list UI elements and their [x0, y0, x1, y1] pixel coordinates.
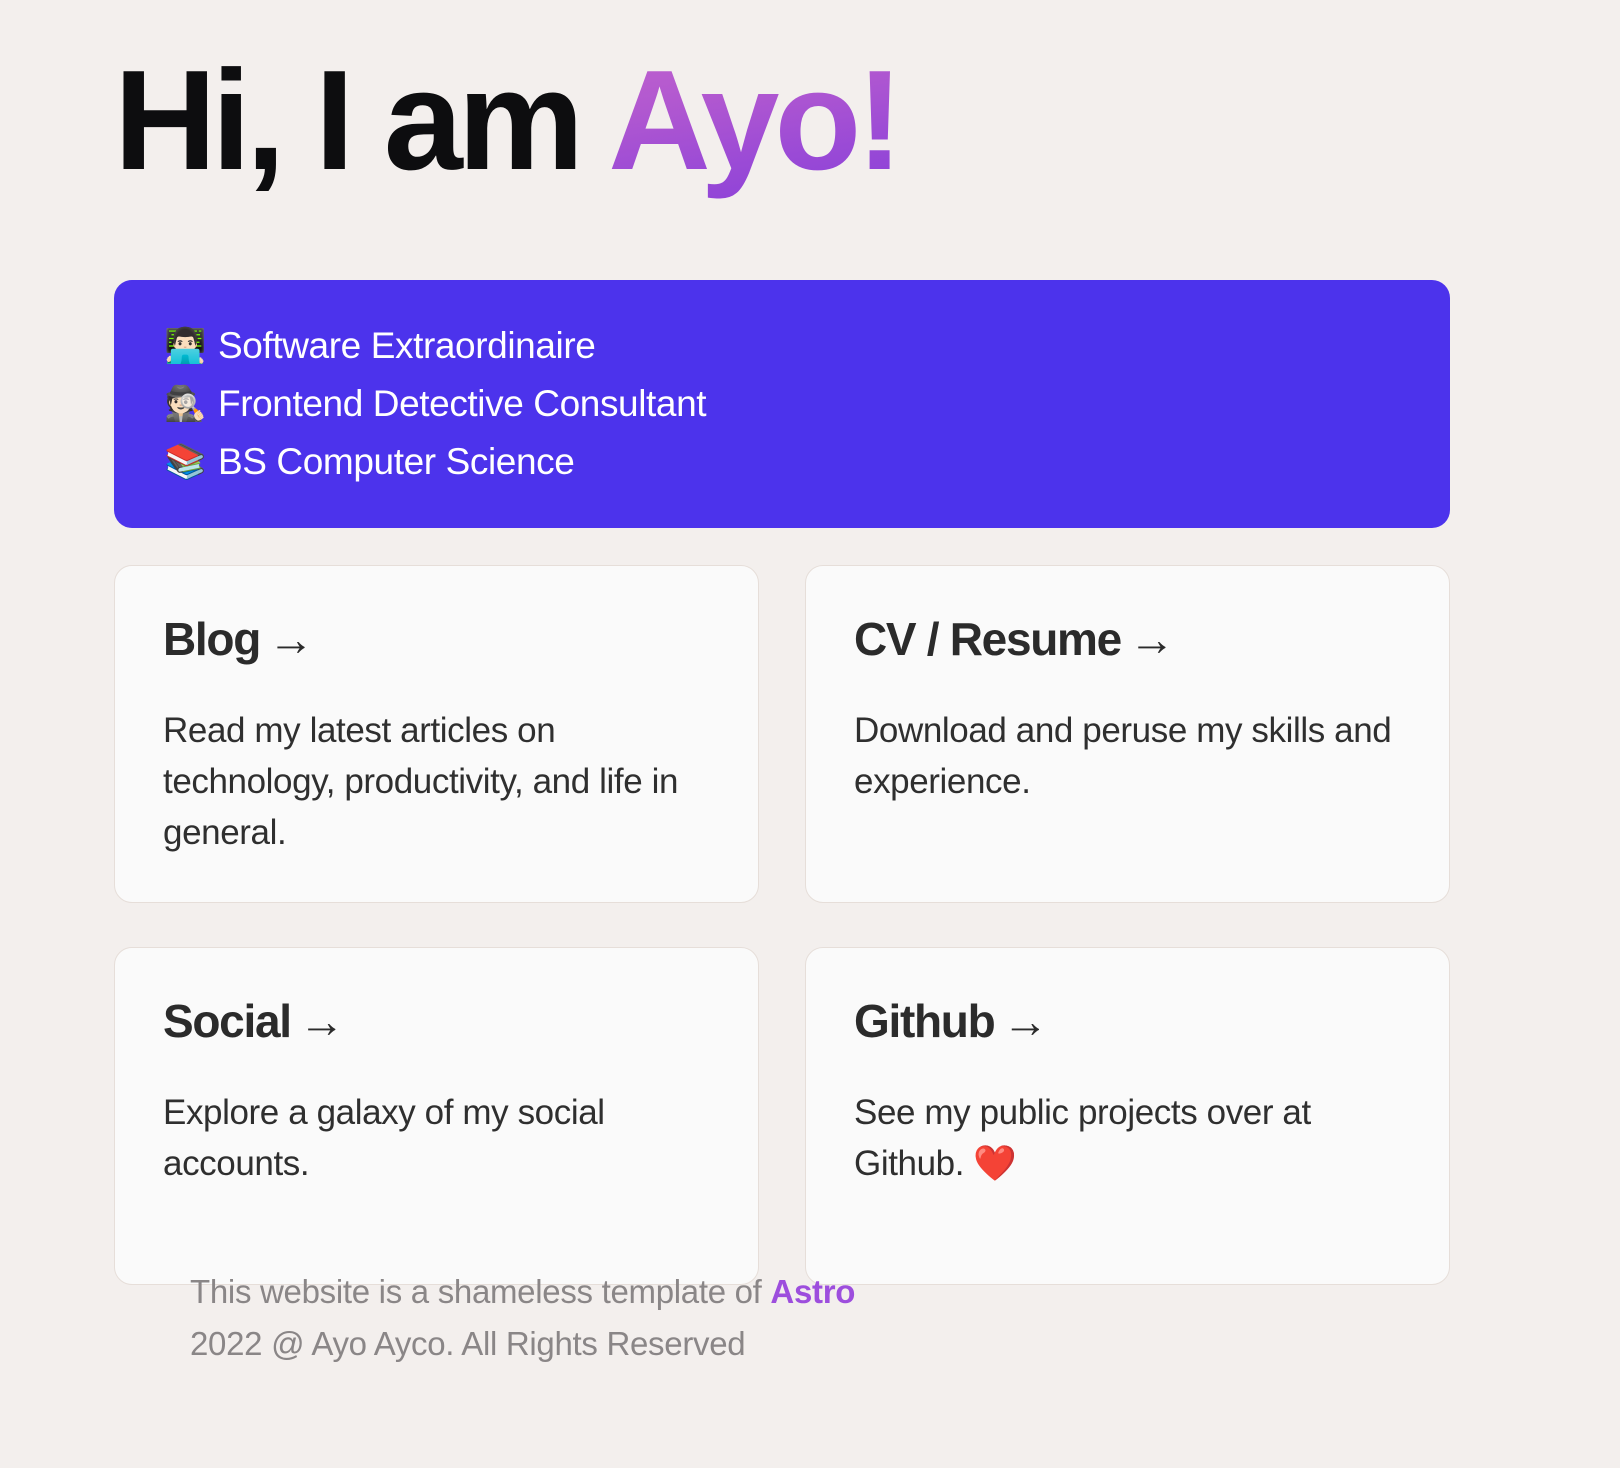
arrow-right-icon: → — [1121, 613, 1174, 665]
arrow-right-icon: → — [260, 613, 313, 665]
card-cv-resume[interactable]: CV / Resume→ Download and peruse my skil… — [805, 565, 1450, 903]
card-blog-title-text: Blog — [163, 613, 260, 665]
card-github-description: See my public projects over at Github. ❤… — [854, 1087, 1401, 1189]
card-blog-title: Blog→ — [163, 614, 710, 665]
card-cv-resume-title-text: CV / Resume — [854, 613, 1121, 665]
arrow-right-icon: → — [994, 995, 1047, 1047]
page-root: Hi, I am Ayo! 👨🏻‍💻 Software Extraordinai… — [0, 0, 1620, 1468]
card-github-title: Github→ — [854, 996, 1401, 1047]
page-title: Hi, I am Ayo! — [114, 44, 1514, 197]
books-emoji: 📚 — [164, 445, 204, 479]
astro-link[interactable]: Astro — [770, 1273, 855, 1310]
highlight-panel: 👨🏻‍💻 Software Extraordinaire 🕵🏻 Frontend… — [114, 280, 1450, 528]
highlight-list: 👨🏻‍💻 Software Extraordinaire 🕵🏻 Frontend… — [164, 317, 1400, 491]
detective-emoji: 🕵🏻 — [164, 387, 204, 421]
card-github-title-text: Github — [854, 995, 994, 1047]
card-social-title: Social→ — [163, 996, 710, 1047]
card-cv-resume-title: CV / Resume→ — [854, 614, 1401, 665]
card-social[interactable]: Social→ Explore a galaxy of my social ac… — [114, 947, 759, 1285]
site-footer: This website is a shameless template of … — [190, 1266, 855, 1370]
card-social-title-text: Social — [163, 995, 291, 1047]
hero-name-accent: Ayo! — [608, 41, 898, 200]
card-github[interactable]: Github→ See my public projects over at G… — [805, 947, 1450, 1285]
card-cv-resume-description: Download and peruse my skills and experi… — [854, 705, 1401, 807]
footer-line-copyright: 2022 @ Ayo Ayco. All Rights Reserved — [190, 1318, 855, 1370]
list-item-label: BS Computer Science — [218, 433, 574, 491]
hero-greeting: Hi, I am — [114, 41, 608, 200]
card-blog[interactable]: Blog→ Read my latest articles on technol… — [114, 565, 759, 903]
arrow-right-icon: → — [291, 995, 344, 1047]
footer-line-credit: This website is a shameless template of … — [190, 1266, 855, 1318]
card-social-description: Explore a galaxy of my social accounts. — [163, 1087, 710, 1189]
link-card-grid: Blog→ Read my latest articles on technol… — [114, 565, 1450, 1285]
list-item: 🕵🏻 Frontend Detective Consultant — [164, 375, 1400, 433]
footer-credit-text: This website is a shameless template of — [190, 1273, 770, 1310]
list-item-label: Frontend Detective Consultant — [218, 375, 706, 433]
technologist-emoji: 👨🏻‍💻 — [164, 329, 204, 363]
list-item: 📚 BS Computer Science — [164, 433, 1400, 491]
list-item: 👨🏻‍💻 Software Extraordinaire — [164, 317, 1400, 375]
card-blog-description: Read my latest articles on technology, p… — [163, 705, 710, 858]
list-item-label: Software Extraordinaire — [218, 317, 595, 375]
hero-section: Hi, I am Ayo! — [114, 44, 1514, 197]
